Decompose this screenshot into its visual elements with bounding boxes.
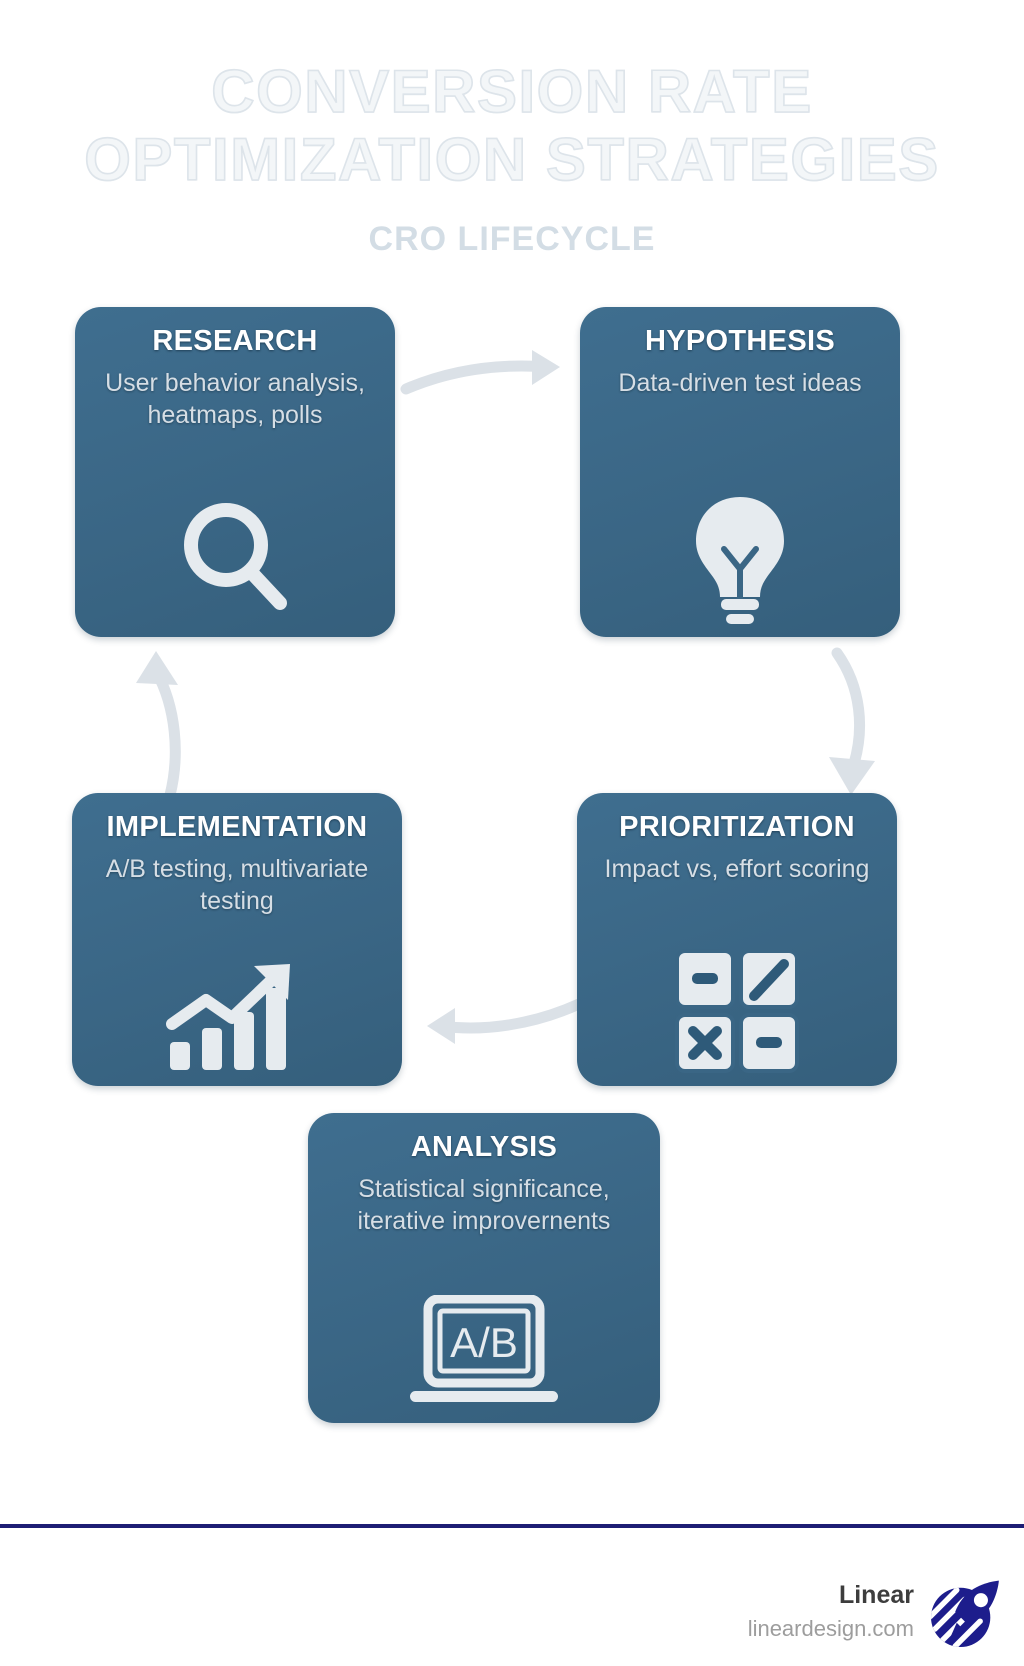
step-title-analysis: ANALYSIS [322,1129,646,1165]
laptop-ab-icon: A/B [308,1295,660,1413]
page-subtitle: CRO LIFECYCLE [0,220,1024,259]
step-title-hypothesis: HYPOTHESIS [594,323,886,359]
footer-brand-name: Linear [748,1580,914,1610]
footer-divider [0,1524,1024,1528]
growth-chart-icon [72,960,402,1076]
footer: Linear lineardesign.com [0,1540,1024,1666]
ab-label: A/B [450,1319,518,1366]
step-body-prioritization: Impact vs, effort scoring [591,853,883,885]
footer-website-url[interactable]: lineardesign.com [748,1614,914,1644]
step-body-implementation: A/B testing, multivariate testing [86,853,388,917]
arrow-research-to-hypothesis [400,345,580,405]
step-card-prioritization[interactable]: PRIORITIZATION Impact vs, effort scoring [577,793,897,1086]
magnifying-glass-icon [75,495,395,621]
step-title-prioritization: PRIORITIZATION [591,809,883,845]
page-title: CONVERSION RATE OPTIMIZATION STRATEGIES [0,58,1024,194]
step-title-research: RESEARCH [89,323,381,359]
calculator-icon [577,948,897,1074]
lightbulb-icon [580,487,900,627]
step-card-analysis[interactable]: ANALYSIS Statistical significance, itera… [308,1113,660,1423]
arrow-hypothesis-to-prioritization [785,645,905,805]
infographic-page: CONVERSION RATE OPTIMIZATION STRATEGIES … [0,0,1024,1666]
step-body-hypothesis: Data-driven test ideas [594,367,886,399]
arrow-prioritization-to-implementation [405,990,585,1052]
step-card-implementation[interactable]: IMPLEMENTATION A/B testing, multivariate… [72,793,402,1086]
step-body-analysis: Statistical significance, iterative impr… [322,1173,646,1237]
step-body-research: User behavior analysis, heatmaps, polls [89,367,381,431]
arrow-implementation-to-research [118,645,208,803]
title-line-1: CONVERSION RATE [0,58,1024,126]
step-card-hypothesis[interactable]: HYPOTHESIS Data-driven test ideas [580,307,900,637]
rocket-circle-logo [924,1576,1002,1654]
footer-text-block: Linear lineardesign.com [748,1580,914,1644]
step-card-research[interactable]: RESEARCH User behavior analysis, heatmap… [75,307,395,637]
title-line-2: OPTIMIZATION STRATEGIES [0,126,1024,194]
step-title-implementation: IMPLEMENTATION [86,809,388,845]
